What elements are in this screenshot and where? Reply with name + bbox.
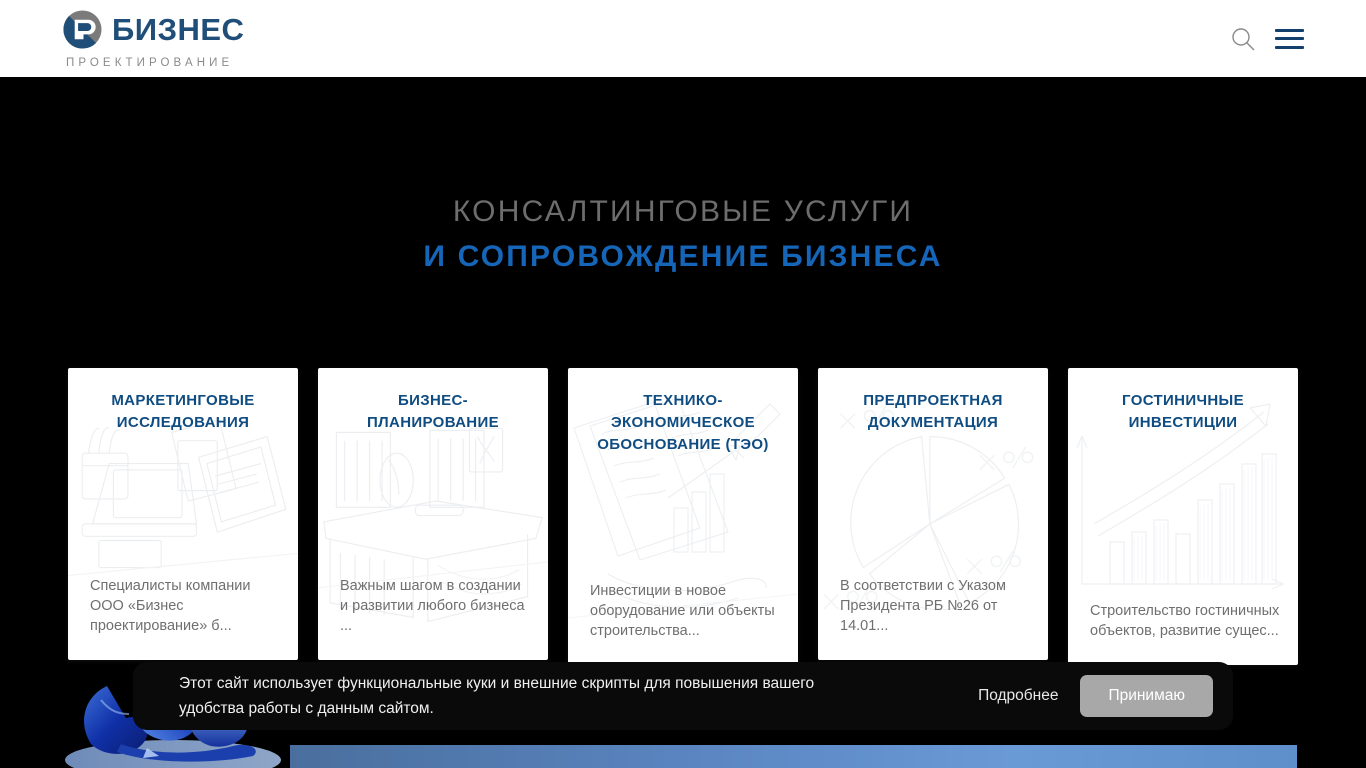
card-illustration-area: [568, 456, 798, 581]
service-card-feasibility-study[interactable]: ТЕХНИКО-ЭКОНОМИЧЕСКОЕ ОБОСНОВАНИЕ (ТЭО) …: [568, 368, 798, 665]
card-illustration-area: [818, 434, 1048, 576]
card-description: В соответствии с Указом Президента РБ №2…: [818, 576, 1048, 660]
service-cards-row: МАРКЕТИНГОВЫЕ ИССЛЕДОВАНИЯ Специалисты к…: [68, 368, 1298, 665]
card-title: ПРЕДПРОЕКТНАЯ ДОКУМЕНТАЦИЯ: [818, 368, 1048, 434]
business-logo-mark-icon: [62, 9, 103, 50]
logo-top-row: БИЗНЕС: [62, 9, 244, 50]
service-card-marketing[interactable]: МАРКЕТИНГОВЫЕ ИССЛЕДОВАНИЯ Специалисты к…: [68, 368, 298, 660]
page-root: БИЗНЕС ПРОЕКТИРОВАНИЕ КОНСАЛТИНГОВЫЕ УСЛ…: [0, 0, 1366, 768]
card-description: Строительство гостиничных объектов, разв…: [1068, 601, 1298, 665]
site-header: БИЗНЕС ПРОЕКТИРОВАНИЕ: [0, 0, 1366, 77]
hamburger-menu-icon: [1275, 29, 1304, 49]
search-icon: [1230, 26, 1256, 52]
logo-block: БИЗНЕС ПРОЕКТИРОВАНИЕ: [62, 9, 244, 69]
service-card-predesign-docs[interactable]: ПРЕДПРОЕКТНАЯ ДОКУМЕНТАЦИЯ В соответстви…: [818, 368, 1048, 660]
cookie-consent-banner: Этот сайт использует функциональные куки…: [133, 662, 1233, 730]
card-description: Специалисты компании ООО «Бизнес проекти…: [68, 576, 298, 660]
card-illustration-area: [1068, 434, 1298, 601]
logo-wordmark: БИЗНЕС: [112, 14, 244, 45]
service-card-hotel-investments[interactable]: ГОСТИНИЧНЫЕ ИНВЕСТИЦИИ Строительство гос…: [1068, 368, 1298, 665]
card-illustration-area: [68, 434, 298, 576]
hero-subtitle: И СОПРОВОЖДЕНИЕ БИЗНЕСА: [0, 235, 1366, 279]
card-description: Важным шагом в создании и развитии любог…: [318, 576, 548, 660]
service-card-business-planning[interactable]: БИЗНЕС-ПЛАНИРОВАНИЕ Важным шагом в созда…: [318, 368, 548, 660]
site-logo[interactable]: БИЗНЕС ПРОЕКТИРОВАНИЕ: [62, 9, 244, 69]
hero-title: КОНСАЛТИНГОВЫЕ УСЛУГИ: [0, 190, 1366, 234]
menu-button[interactable]: [1275, 29, 1304, 49]
logo-subtitle: ПРОЕКТИРОВАНИЕ: [66, 57, 233, 69]
cookie-accept-button[interactable]: Принимаю: [1080, 675, 1213, 717]
card-title: МАРКЕТИНГОВЫЕ ИССЛЕДОВАНИЯ: [68, 368, 298, 434]
card-description: Инвестиции в новое оборудование или объе…: [568, 581, 798, 665]
cookie-banner-text: Этот сайт использует функциональные куки…: [179, 671, 879, 721]
card-title: ТЕХНИКО-ЭКОНОМИЧЕСКОЕ ОБОСНОВАНИЕ (ТЭО): [568, 368, 798, 456]
card-illustration-area: [318, 434, 548, 576]
header-tools: [1230, 26, 1304, 52]
cookie-more-link[interactable]: Подробнее: [978, 687, 1058, 705]
bottom-blue-strip: [290, 745, 1297, 768]
card-title: БИЗНЕС-ПЛАНИРОВАНИЕ: [318, 368, 548, 434]
cookie-banner-actions: Подробнее Принимаю: [978, 675, 1213, 717]
card-title: ГОСТИНИЧНЫЕ ИНВЕСТИЦИИ: [1068, 368, 1298, 434]
search-button[interactable]: [1230, 26, 1256, 52]
